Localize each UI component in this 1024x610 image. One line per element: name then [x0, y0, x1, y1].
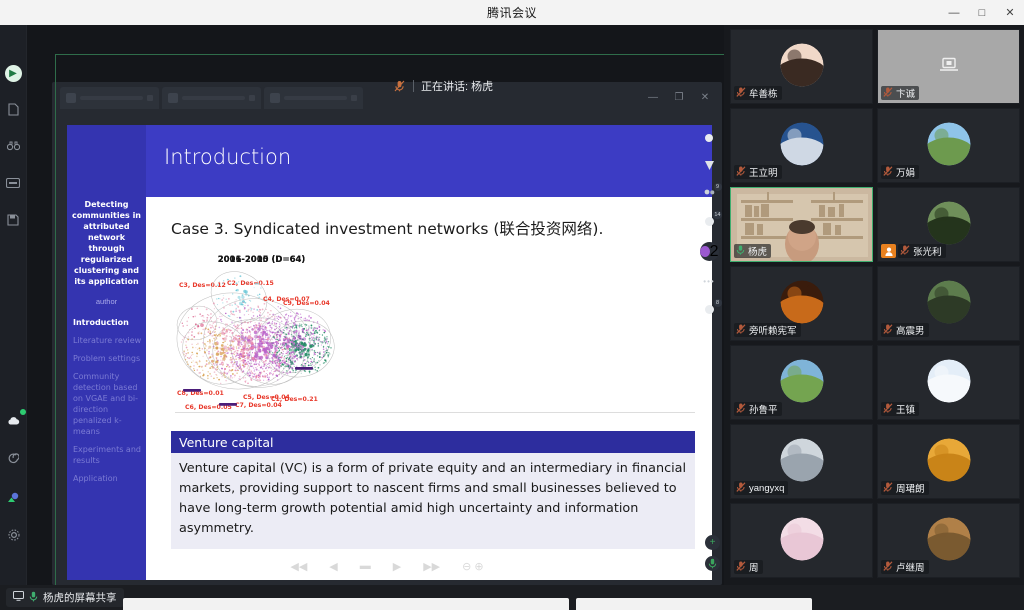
pdf-last-page-button[interactable]: ▶▶: [423, 560, 440, 573]
participant-tile[interactable]: 杨虎: [730, 187, 873, 262]
avatar: [927, 202, 970, 245]
tab-icon: [66, 93, 76, 103]
deck-title: Detecting communities in attributed netw…: [71, 199, 142, 287]
mic-status-icon: [883, 166, 893, 178]
participant-label: 卢继周: [881, 560, 929, 574]
slide-outline-sidebar: Detecting communities in attributed netw…: [67, 125, 146, 580]
participant-label: 王立明: [734, 165, 782, 179]
tab-close-icon[interactable]: [351, 95, 357, 101]
annotate-arrow-icon[interactable]: [702, 158, 717, 173]
maximize-button[interactable]: □: [968, 0, 996, 25]
app-tab[interactable]: [162, 87, 261, 109]
pdf-navigation-bar[interactable]: ◀◀ ◀ ▬ ▶ ▶▶ ⊖ ⊕: [127, 558, 647, 574]
document-icon[interactable]: [3, 99, 23, 119]
zoom-in-button[interactable]: +: [705, 535, 720, 550]
participant-label: 高震男: [881, 323, 929, 337]
cluster-label: C9, Des=0.04: [283, 300, 331, 307]
avatar: [927, 123, 970, 166]
participant-name: 王立明: [749, 165, 778, 179]
taskbar-window-strip[interactable]: [123, 598, 569, 610]
mic-status-icon: [900, 245, 910, 257]
pdf-pause-button[interactable]: ▬: [360, 560, 371, 572]
participant-tile[interactable]: yangyxq: [730, 424, 873, 499]
mic-status-icon: [736, 561, 746, 573]
laptop-icon: [939, 56, 959, 77]
participant-tile[interactable]: 牟善栋: [730, 29, 873, 104]
screen-share-label: 杨虎的屏幕共享: [43, 590, 117, 605]
participant-name: 杨虎: [748, 244, 767, 258]
participant-label: 周: [734, 560, 763, 574]
case-heading: Case 3. Syndicated investment networks (…: [171, 217, 603, 239]
participant-label: 万娟: [881, 165, 919, 179]
participant-tile[interactable]: 王立明: [730, 108, 873, 183]
close-button[interactable]: ✕: [996, 0, 1024, 25]
spiral-icon[interactable]: [4, 449, 24, 469]
avatar: [780, 518, 823, 561]
callout-heading: Venture capital: [171, 431, 695, 453]
participant-label: 旁听赖宪军: [734, 323, 801, 337]
speaking-label: 正在讲话: 杨虎: [421, 78, 493, 94]
taskbar-window-strip[interactable]: [576, 598, 812, 610]
app-tab[interactable]: [264, 87, 363, 109]
keyboard-icon[interactable]: [3, 173, 23, 193]
sidebar-item-introduction[interactable]: Introduction: [71, 317, 142, 328]
participant-tile[interactable]: 周: [730, 503, 873, 578]
mic-status-icon: [736, 324, 746, 336]
deck-author: author: [71, 297, 142, 306]
sidebar-item-problem-settings[interactable]: Problem settings: [71, 353, 142, 364]
participant-name: 高震男: [896, 323, 925, 337]
participant-tile[interactable]: 卢继周: [877, 503, 1020, 578]
participant-label: 周珺朗: [881, 481, 929, 495]
figure-baseline: [175, 412, 695, 413]
record-indicator-icon[interactable]: ▶: [5, 65, 22, 82]
tab-label: [182, 96, 245, 100]
participant-tile[interactable]: 旁听赖宪军: [730, 266, 873, 341]
save-icon[interactable]: [3, 210, 23, 230]
share-corner-controls: +: [705, 535, 720, 571]
participant-name: 旁听赖宪军: [749, 323, 797, 337]
taskbar: 杨虎的屏幕共享: [0, 585, 1024, 610]
left-toolbar-bottom: [0, 411, 27, 563]
network-figure: 2001-2005 (D=64) C3, Des=0.12C2, Des=0.1…: [175, 255, 695, 413]
inner-maximize-button[interactable]: ❐: [666, 86, 692, 108]
participant-grid-panel: 牟善栋卞诚王立明万娟杨虎张光利旁听赖宪军高震男孙鲁平王镇yangyxq周珺朗周卢…: [726, 25, 1024, 585]
avatar: [927, 518, 970, 561]
tab-icon: [270, 93, 280, 103]
reaction-icon[interactable]: 2: [700, 242, 719, 261]
gear-icon[interactable]: [4, 525, 24, 545]
participant-label: 张光利: [898, 244, 946, 258]
app-tab[interactable]: [60, 87, 159, 109]
window-controls: — □ ✕: [940, 0, 1024, 25]
mic-status-icon: [736, 245, 745, 257]
venture-capital-callout: Venture capital Venture capital (VC) is …: [171, 431, 695, 549]
participant-name: 周: [749, 560, 759, 574]
participant-name: yangyxq: [749, 483, 784, 494]
mic-status-icon: [736, 482, 746, 494]
mic-status-icon: [883, 561, 893, 573]
reaction-count: 2: [710, 243, 719, 261]
pdf-first-page-button[interactable]: ◀◀: [290, 560, 307, 573]
inner-close-button[interactable]: ✕: [692, 86, 718, 108]
participant-name: 孙鲁平: [749, 402, 778, 416]
meeting-body: ▶: [0, 25, 1024, 585]
avatar: [780, 123, 823, 166]
tab-label: [284, 96, 347, 100]
participant-label: yangyxq: [734, 481, 788, 495]
tab-label: [80, 96, 143, 100]
avatar: [927, 439, 970, 482]
chat-count: 14: [713, 211, 721, 219]
sidebar-item-application[interactable]: Application: [71, 473, 142, 484]
inner-minimize-button[interactable]: —: [640, 86, 666, 108]
share-screen-icon[interactable]: [4, 487, 24, 507]
share-floating-toolbar: 9 14 2 ••• 8: [699, 130, 719, 317]
participant-label: 杨虎: [734, 244, 771, 258]
os-title-bar: 腾讯会议 — □ ✕: [0, 0, 1024, 25]
participant-tile[interactable]: 周珺朗: [877, 424, 1020, 499]
minimize-button[interactable]: —: [940, 0, 968, 25]
sidebar-item-experiments-and-results[interactable]: Experiments and results: [71, 444, 142, 466]
chat-icon[interactable]: 14: [702, 214, 717, 229]
slide-header-band: Introduction: [146, 125, 712, 197]
settings-count: 8: [714, 299, 722, 307]
inner-window-controls: — ❐ ✕: [640, 86, 718, 108]
participant-tile[interactable]: 卞诚: [877, 29, 1020, 104]
participant-tile[interactable]: 王镇: [877, 345, 1020, 420]
mic-status-icon: [883, 403, 893, 415]
avatar: [780, 439, 823, 482]
participant-label: 王镇: [881, 402, 919, 416]
participant-label: 卞诚: [881, 86, 919, 100]
mic-icon: [392, 79, 406, 93]
panel-caption: 2011-2015 (D=64): [175, 255, 348, 265]
participant-name: 牟善栋: [749, 86, 778, 100]
participant-tile[interactable]: 高震男: [877, 266, 1020, 341]
mic-status-icon: [736, 87, 746, 99]
shared-screen-region[interactable]: 正在讲话: 杨虎 — ❐ ✕ Introduction: [27, 25, 724, 585]
participant-name: 周珺朗: [896, 481, 925, 495]
avatar: [927, 281, 970, 324]
participant-name: 张光利: [913, 244, 942, 258]
participant-label: 孙鲁平: [734, 402, 782, 416]
tab-close-icon[interactable]: [147, 95, 153, 101]
speaking-indicator: 正在讲话: 杨虎: [392, 75, 493, 97]
sidebar-item-community-detection[interactable]: Community detection based on VGAE and bi…: [71, 371, 142, 437]
mic-status-icon: [736, 166, 746, 178]
left-toolbar: ▶: [0, 25, 27, 585]
participant-name: 万娟: [896, 165, 915, 179]
participants-icon[interactable]: 9: [702, 186, 717, 201]
cloud-sync-icon[interactable]: [4, 411, 24, 431]
host-badge: [881, 244, 896, 258]
reaction-blob: [700, 246, 710, 257]
shared-app-window[interactable]: — ❐ ✕ Introduction Detecting communities…: [52, 82, 722, 585]
avatar: [780, 281, 823, 324]
participant-label: 牟善栋: [734, 86, 782, 100]
participant-name: 卞诚: [896, 86, 915, 100]
mic-toggle-button[interactable]: [705, 556, 720, 571]
page-title: Introduction: [164, 145, 291, 169]
settings-icon[interactable]: 8: [702, 302, 717, 317]
monitor-icon: [13, 591, 24, 604]
cursor-pointer-icon[interactable]: [702, 130, 717, 145]
participant-tile[interactable]: 孙鲁平: [730, 345, 873, 420]
participant-name: 王镇: [896, 402, 915, 416]
screen-share-status-chip[interactable]: 杨虎的屏幕共享: [6, 588, 124, 607]
participant-tile[interactable]: 万娟: [877, 108, 1020, 183]
cluster-label: C7, Des=0.04: [235, 402, 283, 409]
app-tab-strip: [60, 87, 660, 109]
binoculars-icon[interactable]: [3, 136, 23, 156]
participants-count: 9: [714, 183, 722, 191]
more-options-icon[interactable]: •••: [702, 274, 717, 289]
mic-status-icon: [883, 324, 893, 336]
participant-name: 卢继周: [896, 560, 925, 574]
sync-badge: [20, 409, 26, 415]
callout-body: Venture capital (VC) is a form of privat…: [171, 453, 695, 549]
figure-panel-3: 2011-2015 (D=64) C9, Des=0.04C8, Des=0.0…: [175, 255, 348, 413]
pdf-prev-page-button[interactable]: ◀: [329, 560, 337, 573]
avatar: [927, 360, 970, 403]
divider: [413, 80, 414, 92]
app-title: 腾讯会议: [487, 4, 537, 21]
tab-icon: [168, 93, 178, 103]
pdf-next-page-button[interactable]: ▶: [393, 560, 401, 573]
pdf-zoom-controls[interactable]: ⊖ ⊕: [462, 560, 484, 573]
avatar: [780, 44, 823, 87]
participant-grid: 牟善栋卞诚王立明万娟杨虎张光利旁听赖宪军高震男孙鲁平王镇yangyxq周珺朗周卢…: [730, 29, 1021, 578]
avatar: [780, 360, 823, 403]
tab-close-icon[interactable]: [249, 95, 255, 101]
tencent-meeting-window: 腾讯会议 — □ ✕ ▶: [0, 0, 1024, 610]
mic-status-icon: [736, 403, 746, 415]
participant-tile[interactable]: 张光利: [877, 187, 1020, 262]
panel-canvas: C9, Des=0.04C8, Des=0.01C7, Des=0.04: [175, 271, 348, 413]
outline-list: Introduction Literature review Problem s…: [71, 317, 142, 484]
mic-status-icon: [883, 87, 893, 99]
mic-status-icon: [883, 482, 893, 494]
presentation-slide: Introduction Detecting communities in at…: [67, 125, 712, 580]
mic-icon: [29, 591, 38, 605]
sidebar-item-literature-review[interactable]: Literature review: [71, 335, 142, 346]
